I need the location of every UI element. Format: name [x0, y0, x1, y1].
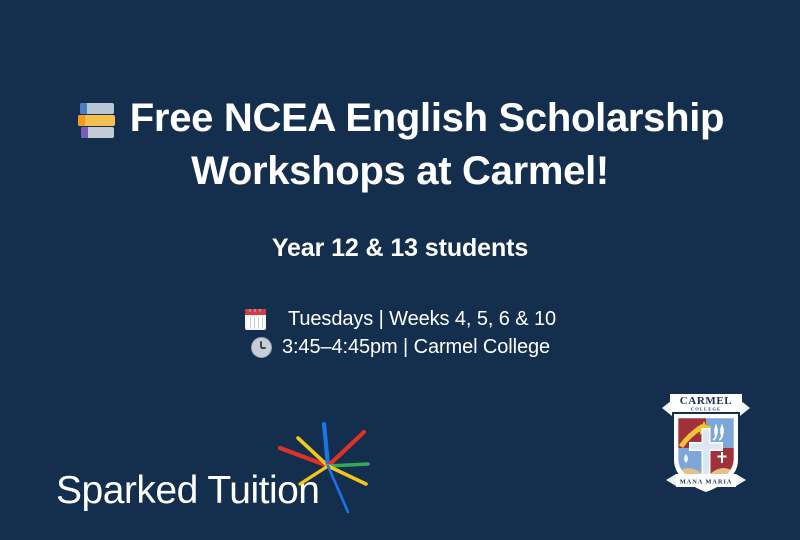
spark-burst-icon	[272, 422, 372, 514]
carmel-college-crest-icon: CARMEL COLLEGE MANA MARIA	[658, 388, 754, 498]
title-line-1: Free NCEA English Scholarship	[130, 92, 724, 145]
subtitle: Year 12 & 13 students	[0, 234, 800, 263]
detail-text-date: Tuesdays | Weeks 4, 5, 6 & 10	[288, 308, 556, 331]
clock-icon	[250, 335, 274, 359]
details-block: Tuesdays | Weeks 4, 5, 6 & 10 3:45–4:45p…	[0, 305, 800, 361]
crest-bottom-banner: MANA MARIA	[680, 479, 733, 486]
promo-poster: Free NCEA English Scholarship Workshops …	[0, 0, 800, 540]
detail-row-time: 3:45–4:45pm | Carmel College	[250, 333, 550, 361]
books-icon	[76, 98, 118, 140]
title-line-2: Workshops at Carmel!	[0, 145, 800, 198]
detail-row-date: Tuesdays | Weeks 4, 5, 6 & 10	[244, 305, 556, 333]
title-block: Free NCEA English Scholarship Workshops …	[0, 92, 800, 198]
sparked-tuition-logo: Sparked Tuition	[56, 440, 366, 515]
calendar-icon	[244, 307, 268, 331]
title-line-1-row: Free NCEA English Scholarship	[0, 92, 800, 145]
crest-top-banner-line-1: CARMEL	[680, 395, 733, 407]
crest-top-banner-line-2: COLLEGE	[691, 407, 721, 412]
detail-text-time: 3:45–4:45pm | Carmel College	[282, 336, 550, 359]
